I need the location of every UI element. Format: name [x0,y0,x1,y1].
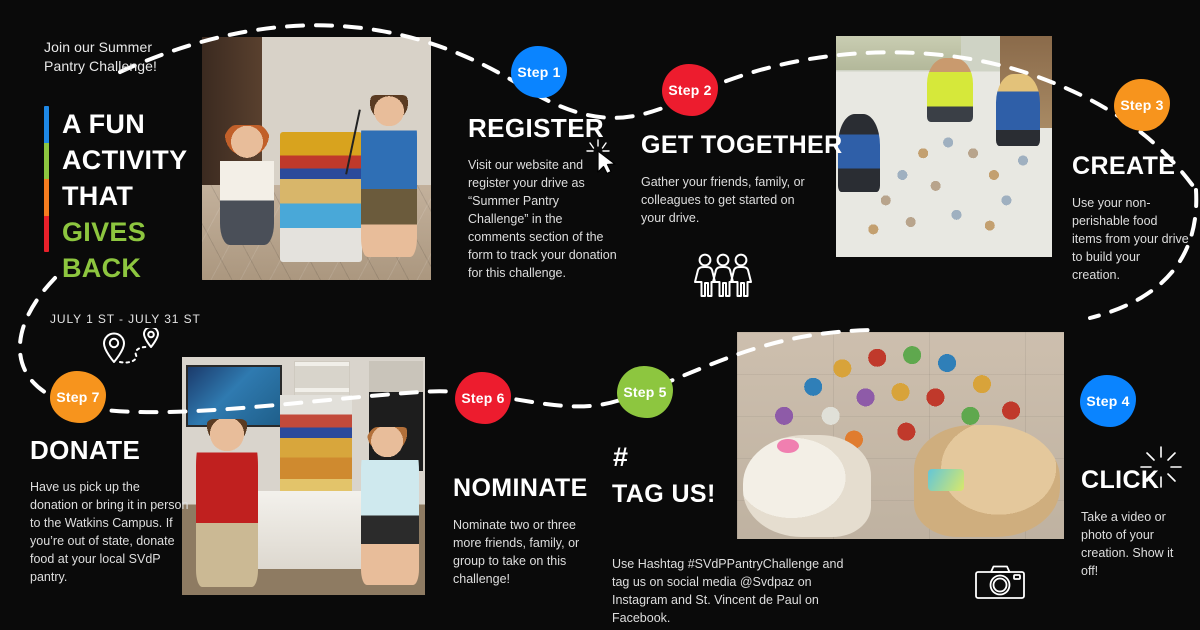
step-title-donate: DONATE [30,436,190,465]
step-body-click: Take a video or photo of your creation. … [1081,508,1189,580]
photo-kids-robot [202,37,431,280]
step-title-get-together: GET TOGETHER [641,131,809,160]
bar-segment-blue [44,106,49,143]
three-people-icon [692,252,754,298]
volunteer-left [838,114,880,192]
photo-kids-livingroom [182,357,425,595]
step-block-donate: DONATE Have us pick up the donation or b… [30,436,190,586]
headline-line-4: BACK [62,250,224,286]
headline-line-3: THAT GIVES [62,178,224,250]
dog-right [914,425,1060,537]
headline-line-3a: THAT [62,181,133,211]
step-badge-6[interactable]: Step 6 [455,372,511,424]
bar-segment-green [44,143,49,180]
bar-segment-red [44,216,49,253]
volunteer-center [927,58,973,122]
step-block-nominate: NOMINATE Nominate two or three more frie… [453,474,583,588]
child-boy [361,95,417,257]
join-line-1: Join our Summer [44,39,152,55]
step-block-tag-us: TAG US! Use Hashtag #SVdPPantryChallenge… [612,480,862,627]
infographic-page: { "header": { "join_line": "Join our Sum… [0,0,1200,630]
step-body-nominate: Nominate two or three more friends, fami… [453,516,583,588]
step-block-create: CREATE Use your non-perishable food item… [1072,152,1190,284]
step-badge-4[interactable]: Step 4 [1080,375,1136,427]
header-block: Join our Summer Pantry Challenge! A FUN … [44,38,224,326]
step-badge-1[interactable]: Step 1 [511,46,567,98]
food-tower [280,395,352,503]
step-badge-2[interactable]: Step 2 [662,64,718,116]
volunteer-right [996,74,1040,146]
map-route-icon [100,328,164,370]
step-title-nominate: NOMINATE [453,474,583,503]
step-body-tag-us: Use Hashtag #SVdPPantryChallenge and tag… [612,555,862,627]
step-block-get-together: GET TOGETHER Gather your friends, family… [641,131,809,227]
date-range: JULY 1 ST - JULY 31 ST [50,312,224,326]
page-title: A FUN ACTIVITY THAT GIVES BACK [62,106,224,286]
headline-row: A FUN ACTIVITY THAT GIVES BACK [44,106,224,286]
step-badge-7[interactable]: Step 7 [50,371,106,423]
hashtag-icon: # [613,444,628,471]
headline-line-3b: GIVES [62,217,146,247]
child-boy [196,419,258,587]
step-title-create: CREATE [1072,152,1190,181]
photo-television [186,365,282,427]
step-title-tag-us: TAG US! [612,480,862,509]
step-body-create: Use your non-perishable food items from … [1072,194,1190,284]
accent-color-bar [44,106,49,252]
bar-segment-orange [44,179,49,216]
step-badge-3[interactable]: Step 3 [1114,79,1170,131]
child-girl [220,125,274,245]
step-body-donate: Have us pick up the donation or bring it… [30,478,190,586]
click-cursor-icon [586,139,620,175]
headline-line-1: A FUN [62,106,224,142]
sparkle-icon [1140,446,1182,488]
photo-volunteers [836,36,1052,257]
step-body-get-together: Gather your friends, family, or colleagu… [641,173,809,227]
child-girl [361,427,419,585]
camera-icon [974,562,1026,602]
join-line-2: Pantry Challenge! [44,57,224,76]
headline-line-2: ACTIVITY [62,142,224,178]
step-badge-5[interactable]: Step 5 [617,366,673,418]
join-invitation-text: Join our Summer Pantry Challenge! [44,38,224,76]
